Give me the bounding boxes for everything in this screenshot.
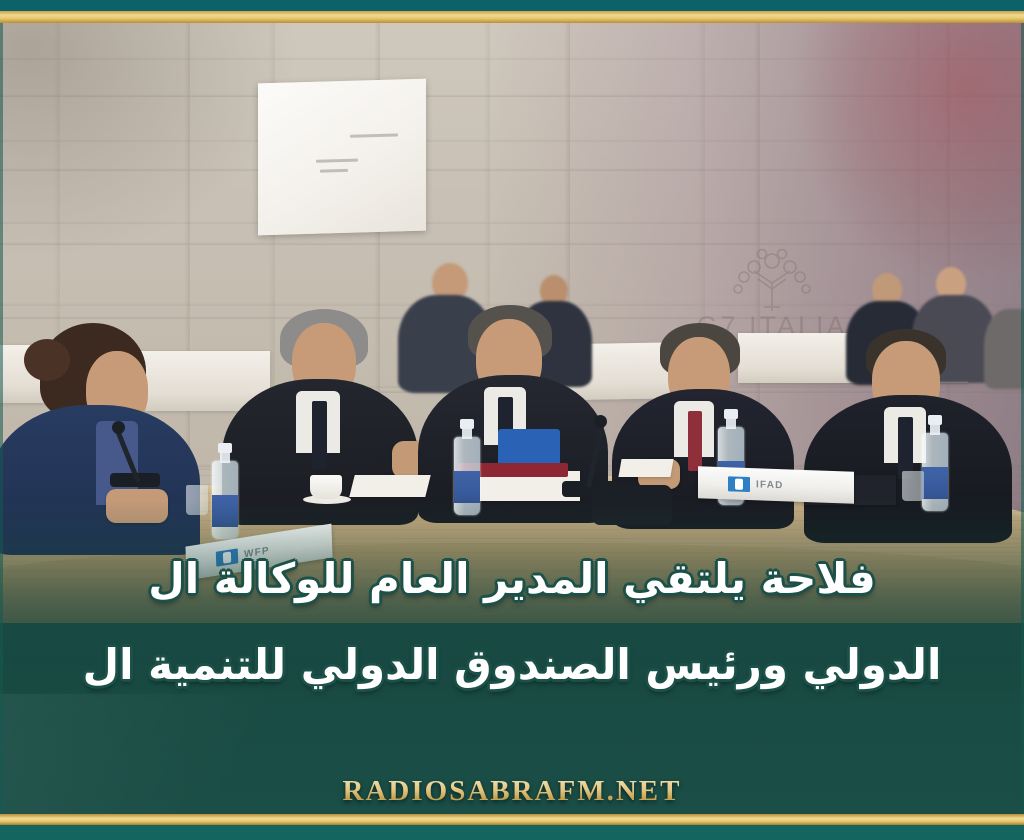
bottle-cap bbox=[928, 415, 942, 425]
headline-block: فلاحة يلتقي المدير العام للوكالة ال الدو… bbox=[0, 536, 1024, 708]
name-plate-label: IFAD bbox=[756, 479, 784, 491]
frame-top-teal-band bbox=[0, 0, 1024, 11]
bottle-cap bbox=[460, 419, 474, 429]
drinking-glass bbox=[902, 471, 924, 501]
site-brand-watermark: RADIOSABRAFM.NET bbox=[0, 775, 1024, 808]
microphone-head bbox=[594, 415, 607, 428]
water-bottle bbox=[922, 415, 948, 511]
event-photograph: G7 ITALIA bbox=[0, 23, 1024, 623]
screen-text-line bbox=[350, 133, 398, 137]
delegate-tie bbox=[688, 411, 702, 471]
frame-top-gold-band bbox=[0, 11, 1024, 23]
frame-bottom-teal-band bbox=[0, 825, 1024, 840]
headline-line-2: الدولي ورئيس الصندوق الدولي للتنمية ال bbox=[0, 622, 1024, 708]
news-banner-card: G7 ITALIA bbox=[0, 0, 1024, 840]
name-plate-ifad: IFAD bbox=[698, 466, 854, 503]
wall-red-light-wash bbox=[794, 23, 1024, 283]
frame-bottom-gold-band bbox=[0, 814, 1024, 825]
bottle-label bbox=[454, 471, 480, 503]
bottle-label bbox=[922, 467, 948, 499]
screen-text-line bbox=[320, 169, 348, 173]
water-bottle bbox=[212, 443, 238, 539]
delegate-tie bbox=[312, 401, 327, 469]
table-papers bbox=[618, 459, 673, 477]
delegate-hands bbox=[106, 489, 168, 523]
headline-line-1: فلاحة يلتقي المدير العام للوكالة ال bbox=[0, 536, 1024, 622]
background-attendee bbox=[984, 309, 1024, 389]
projection-screen bbox=[258, 79, 426, 236]
microphone-base bbox=[592, 485, 672, 525]
wall-shadow-wash bbox=[0, 23, 300, 263]
delegate-tie bbox=[898, 417, 913, 479]
ifad-logo-icon bbox=[728, 476, 750, 492]
screen-text-line bbox=[316, 159, 358, 163]
delegate-hair-bun bbox=[24, 339, 70, 381]
g7-tree-icon bbox=[724, 245, 820, 313]
microphone-head bbox=[112, 421, 125, 434]
table-papers bbox=[349, 475, 430, 497]
drinking-glass bbox=[186, 485, 208, 515]
bottle-cap bbox=[724, 409, 738, 419]
water-bottle bbox=[454, 419, 480, 515]
bottle-label bbox=[212, 495, 238, 527]
bottle-cap bbox=[218, 443, 232, 453]
frame-left-edge bbox=[0, 0, 3, 840]
coffee-cup bbox=[310, 475, 342, 499]
